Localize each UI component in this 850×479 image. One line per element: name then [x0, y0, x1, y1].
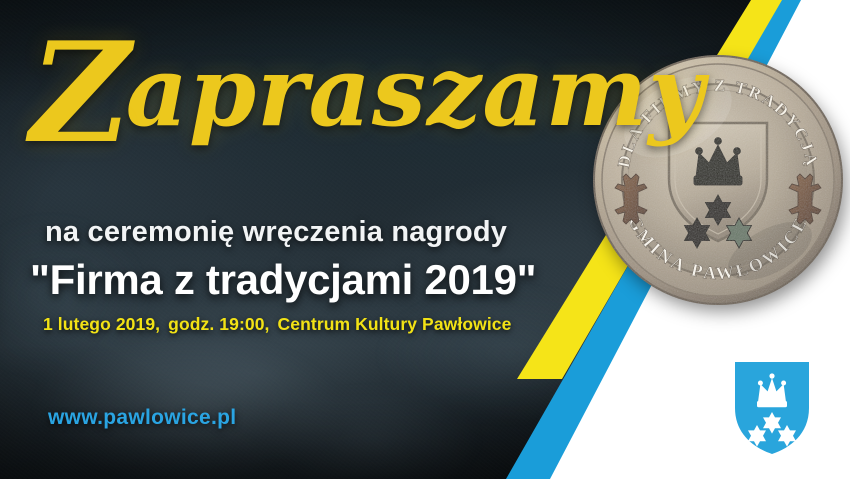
- event-date: 1 lutego 2019,: [43, 314, 160, 334]
- invitation-poster: DLA FIRMY Z TRADYCJĄ GMINA PAWŁOWICE: [0, 0, 850, 479]
- coat-of-arms-icon: [733, 360, 811, 456]
- event-venue: Centrum Kultury Pawłowice: [278, 314, 512, 334]
- event-details: 1 lutego 2019,godz. 19:00,Centrum Kultur…: [43, 314, 511, 335]
- event-time: godz. 19:00,: [168, 314, 269, 334]
- title-rest: apraszamy: [126, 35, 705, 148]
- website-link[interactable]: www.pawlowice.pl: [48, 406, 236, 430]
- page-title: Zapraszamy: [30, 44, 590, 174]
- title-initial: Z: [30, 11, 132, 174]
- award-name: "Firma z tradycjami 2019": [30, 256, 536, 304]
- gmina-pawlowice-coat-of-arms: [733, 360, 811, 456]
- subtitle-line: na ceremonię wręczenia nagrody: [45, 216, 507, 249]
